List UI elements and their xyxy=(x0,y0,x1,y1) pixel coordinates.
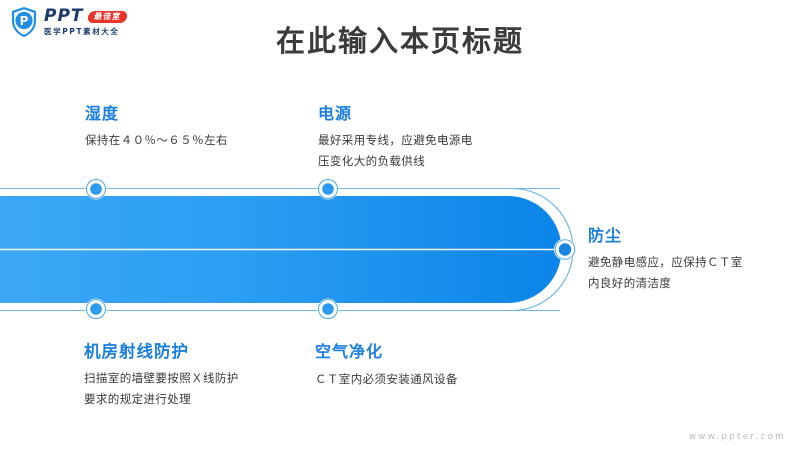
marker-room-shield[interactable] xyxy=(86,299,107,320)
callout-air-purify: 空气净化 ＣＴ室内必须安装通风设备 xyxy=(315,338,458,390)
callout-humidity: 湿度 保持在４０％～６５％左右 xyxy=(85,100,228,151)
callout-room-shield-line-1: 扫描室的墙壁要按照Ｘ线防护 xyxy=(84,368,239,389)
callout-power: 电源 最好采用专线，应避免电源电 压变化大的负载供线 xyxy=(318,100,473,173)
divider-end-dot xyxy=(557,246,564,253)
callout-power-line-2: 压变化大的负载供线 xyxy=(318,151,473,172)
callout-humidity-title: 湿度 xyxy=(85,100,228,124)
callout-dust: 防尘 避免静电感应，应保持ＣＴ室 内良好的清洁度 xyxy=(588,222,743,295)
callout-power-title: 电源 xyxy=(318,100,473,124)
callout-humidity-line-1: 保持在４０％～６５％左右 xyxy=(85,130,228,151)
marker-air-purify[interactable] xyxy=(318,299,339,320)
callout-dust-line-1: 避免静电感应，应保持ＣＴ室 xyxy=(588,252,743,273)
callout-dust-title: 防尘 xyxy=(588,222,743,246)
pill-outline xyxy=(0,189,573,311)
page-title: 在此输入本页标题 xyxy=(0,18,800,60)
callout-room-shield-line-2: 要求的规定进行处理 xyxy=(84,389,239,410)
callout-power-line-1: 最好采用专线，应避免电源电 xyxy=(318,130,473,151)
callout-dust-line-2: 内良好的清洁度 xyxy=(588,273,743,294)
marker-power[interactable] xyxy=(318,179,339,200)
marker-humidity[interactable] xyxy=(86,179,107,200)
pill-body xyxy=(0,196,562,303)
marker-dust[interactable] xyxy=(554,239,576,261)
callout-air-purify-line-1: ＣＴ室内必须安装通风设备 xyxy=(315,369,458,390)
slide-canvas: P PPT 最佳室 医学PPT素材大全 在此输入本页标题 xyxy=(0,0,800,450)
callout-room-shield: 机房射线防护 扫描室的墙壁要按照Ｘ线防护 要求的规定进行处理 xyxy=(84,338,239,411)
callout-room-shield-title: 机房射线防护 xyxy=(84,338,239,362)
footer-url: www.ppter.com xyxy=(689,432,786,442)
callout-air-purify-title: 空气净化 xyxy=(315,338,458,362)
